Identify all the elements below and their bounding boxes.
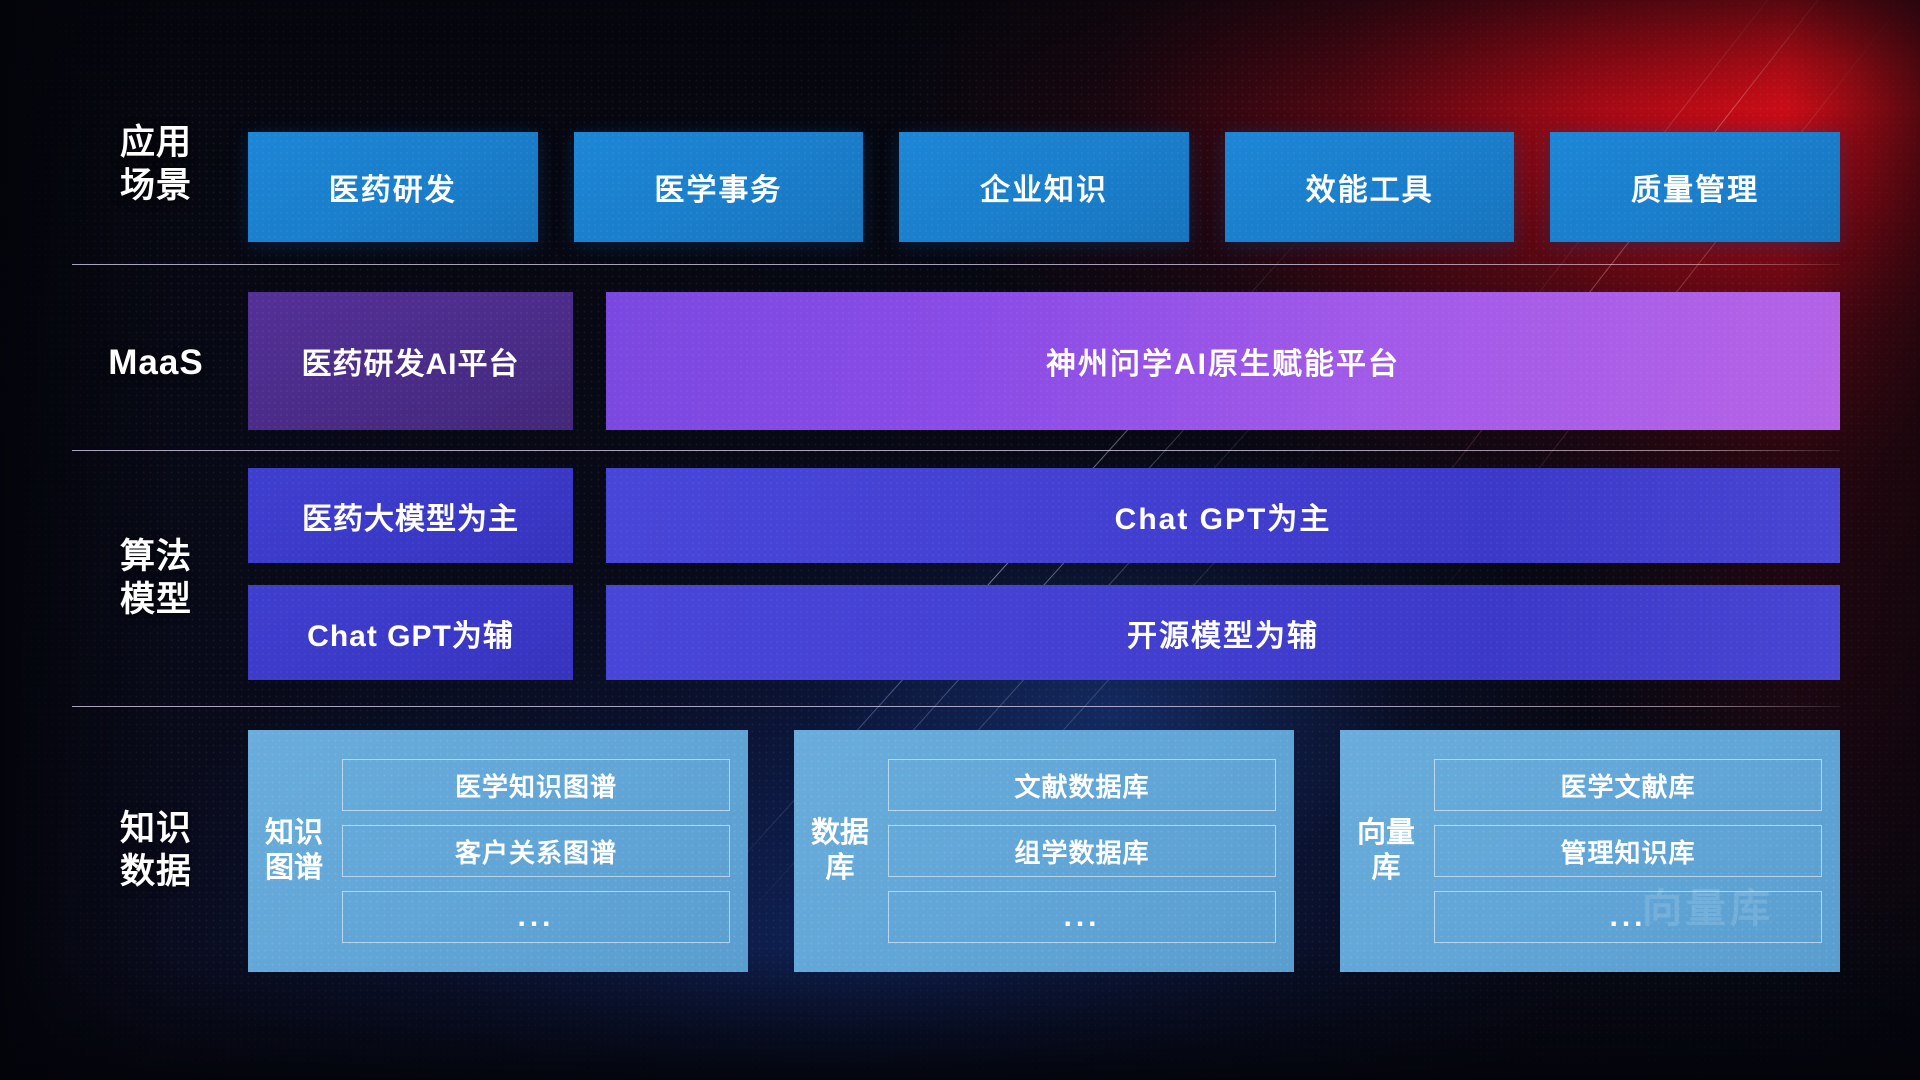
algo-box-primary-left[interactable]: 医药大模型为主 xyxy=(248,468,573,563)
knowledge-card-side-label: 向量库 xyxy=(1354,816,1418,887)
row-label-line-1: 算法 xyxy=(72,536,240,579)
algo-box-label: 开源模型为辅 xyxy=(1127,611,1319,655)
knowledge-item-more[interactable]: ... xyxy=(1434,891,1822,943)
knowledge-card-side-label: 知识图谱 xyxy=(262,816,326,887)
knowledge-item[interactable]: 医学知识图谱 xyxy=(342,759,730,811)
app-scenario-label: 质量管理 xyxy=(1631,165,1759,209)
maas-box-label: 医药研发AI平台 xyxy=(302,339,520,383)
algo-box-secondary-left[interactable]: Chat GPT为辅 xyxy=(248,585,573,680)
app-scenario-box-1[interactable]: 医药研发 xyxy=(248,132,538,242)
app-scenario-label: 企业知识 xyxy=(980,165,1108,209)
maas-box-pharma-ai-platform[interactable]: 医药研发AI平台 xyxy=(248,292,573,430)
divider-algorithm-knowledge xyxy=(72,706,1840,707)
maas-box-shenzhou-wenxue-platform[interactable]: 神州问学AI原生赋能平台 xyxy=(606,292,1840,430)
algo-box-label: Chat GPT为辅 xyxy=(307,611,514,655)
app-scenario-box-4[interactable]: 效能工具 xyxy=(1225,132,1515,242)
row-label-algorithm-model: 算法 模型 xyxy=(72,536,240,621)
knowledge-item[interactable]: 医学文献库 xyxy=(1434,759,1822,811)
row-label-line-2: 场景 xyxy=(72,165,240,208)
divider-application-maas xyxy=(72,264,1840,265)
row-label-application-scenario: 应用 场景 xyxy=(72,122,240,207)
knowledge-item[interactable]: 客户关系图谱 xyxy=(342,825,730,877)
knowledge-item[interactable]: 组学数据库 xyxy=(888,825,1276,877)
row-label-maas: MaaS xyxy=(72,342,240,385)
row-label-line-2: 数据 xyxy=(72,851,240,894)
knowledge-card-vector-store[interactable]: 向量库 医学文献库 管理知识库 ... 向量库 xyxy=(1340,730,1840,972)
algorithm-model-line-2: Chat GPT为辅 开源模型为辅 xyxy=(248,585,1840,680)
knowledge-card-knowledge-graph[interactable]: 知识图谱 医学知识图谱 客户关系图谱 ... xyxy=(248,730,748,972)
diagram-content: 应用 场景 医药研发 医学事务 企业知识 效能工具 质量管理 MaaS xyxy=(0,0,1920,1080)
knowledge-item[interactable]: 管理知识库 xyxy=(1434,825,1822,877)
application-scenario-boxes: 医药研发 医学事务 企业知识 效能工具 质量管理 xyxy=(248,132,1840,242)
knowledge-item[interactable]: 文献数据库 xyxy=(888,759,1276,811)
app-scenario-label: 效能工具 xyxy=(1306,165,1434,209)
knowledge-item-more[interactable]: ... xyxy=(888,891,1276,943)
divider-maas-algorithm xyxy=(72,450,1840,451)
row-label-knowledge-data: 知识 数据 xyxy=(72,808,240,893)
row-label-line-2: 模型 xyxy=(72,579,240,622)
knowledge-card-items: 医学文献库 管理知识库 ... xyxy=(1434,759,1822,943)
app-scenario-label: 医药研发 xyxy=(329,165,457,209)
algorithm-model-boxes: 医药大模型为主 Chat GPT为主 Chat GPT为辅 开源模型为辅 xyxy=(248,468,1840,680)
knowledge-data-cards: 知识图谱 医学知识图谱 客户关系图谱 ... 数据库 文献数据库 组学数据库 .… xyxy=(248,730,1840,972)
row-label-line-1: 知识 xyxy=(72,808,240,851)
knowledge-card-items: 医学知识图谱 客户关系图谱 ... xyxy=(342,759,730,943)
row-label-line-1: MaaS xyxy=(72,342,240,385)
algo-box-label: 医药大模型为主 xyxy=(302,494,519,538)
maas-box-label: 神州问学AI原生赋能平台 xyxy=(1046,339,1400,383)
app-scenario-box-2[interactable]: 医学事务 xyxy=(574,132,864,242)
algo-box-label: Chat GPT为主 xyxy=(1115,494,1332,538)
knowledge-card-items: 文献数据库 组学数据库 ... xyxy=(888,759,1276,943)
knowledge-item-more[interactable]: ... xyxy=(342,891,730,943)
app-scenario-label: 医学事务 xyxy=(654,165,782,209)
knowledge-card-database[interactable]: 数据库 文献数据库 组学数据库 ... xyxy=(794,730,1294,972)
row-label-line-1: 应用 xyxy=(72,122,240,165)
app-scenario-box-3[interactable]: 企业知识 xyxy=(899,132,1189,242)
knowledge-card-side-label: 数据库 xyxy=(808,816,872,887)
app-scenario-box-5[interactable]: 质量管理 xyxy=(1550,132,1840,242)
algo-box-secondary-right[interactable]: 开源模型为辅 xyxy=(606,585,1840,680)
algorithm-model-line-1: 医药大模型为主 Chat GPT为主 xyxy=(248,468,1840,563)
maas-boxes: 医药研发AI平台 神州问学AI原生赋能平台 xyxy=(248,292,1840,430)
slide-canvas: 应用 场景 医药研发 医学事务 企业知识 效能工具 质量管理 MaaS xyxy=(0,0,1920,1080)
algo-box-primary-right[interactable]: Chat GPT为主 xyxy=(606,468,1840,563)
